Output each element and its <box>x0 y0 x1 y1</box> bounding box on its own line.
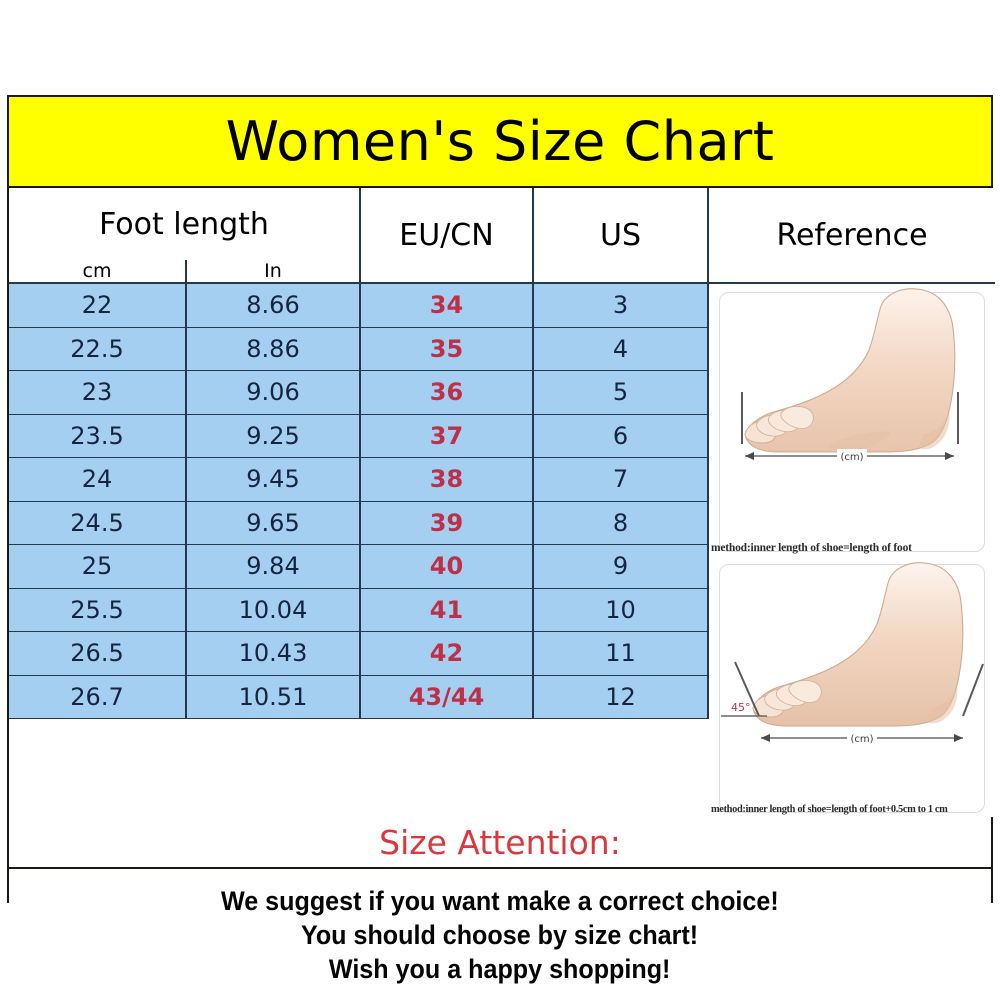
sub-header-cm: cm <box>9 260 187 284</box>
table-cell-eu_cn: 40 <box>361 545 534 589</box>
table-cell-eu_cn: 38 <box>361 458 534 502</box>
table-cell-us: 3 <box>534 284 709 328</box>
reference-diagram-1: (cm) method:inner length of shoe=length … <box>709 284 995 556</box>
sub-header-label: cm <box>83 260 112 282</box>
table-cell-us: 5 <box>534 371 709 415</box>
table-cell-in: 9.06 <box>187 371 361 415</box>
table-cell-us: 6 <box>534 415 709 459</box>
column-header-eu-cn: EU/CN <box>361 188 534 284</box>
table-cell-in: 9.45 <box>187 458 361 502</box>
attention-note-line: Wish you a happy shopping! <box>329 954 671 985</box>
table-cell-us: 8 <box>534 502 709 546</box>
reference-column: (cm) method:inner length of shoe=length … <box>709 284 995 817</box>
foot-side-view-45deg-icon: 45° (cm) <box>709 556 995 774</box>
measure-label: (cm) <box>840 452 863 463</box>
column-header-label: EU/CN <box>399 218 493 253</box>
column-header-reference: Reference <box>709 188 995 284</box>
table-cell-in: 9.25 <box>187 415 361 459</box>
table-cell-eu_cn: 34 <box>361 284 534 328</box>
table-cell-cm: 26.7 <box>9 676 187 720</box>
column-header-label: Reference <box>776 218 927 253</box>
title-banner: Women's Size Chart <box>9 97 991 188</box>
table-cell-us: 12 <box>534 676 709 720</box>
table-cell-cm: 22.5 <box>9 328 187 372</box>
sub-header-label: In <box>264 260 282 282</box>
size-attention-title: Size Attention: <box>379 823 621 862</box>
table-cell-eu_cn: 35 <box>361 328 534 372</box>
table-cell-cm: 23 <box>9 371 187 415</box>
attention-note-line: We suggest if you want make a correct ch… <box>221 886 779 917</box>
page-title: Women's Size Chart <box>226 110 775 173</box>
size-chart-frame: Women's Size Chart Foot length EU/CN US … <box>7 95 993 903</box>
table-cell-cm: 26.5 <box>9 632 187 676</box>
column-header-label: Foot length <box>99 207 269 242</box>
table-cell-in: 10.43 <box>187 632 361 676</box>
table-cell-cm: 25.5 <box>9 589 187 633</box>
table-cell-us: 11 <box>534 632 709 676</box>
reference-diagram-2: 45° (cm) method:inner length of shoe=len… <box>709 556 995 817</box>
sub-header-in: In <box>187 260 361 284</box>
table-cell-in: 10.51 <box>187 676 361 720</box>
table-cell-cm: 23.5 <box>9 415 187 459</box>
attention-notes: We suggest if you want make a correct ch… <box>9 869 991 1001</box>
size-attention-row: Size Attention: <box>9 817 991 869</box>
table-cell-eu_cn: 39 <box>361 502 534 546</box>
table-cell-cm: 24.5 <box>9 502 187 546</box>
table-cell-eu_cn: 41 <box>361 589 534 633</box>
table-cell-us: 7 <box>534 458 709 502</box>
measure-label: (cm) <box>850 734 873 745</box>
table-cell-cm: 24 <box>9 458 187 502</box>
table-cell-us: 9 <box>534 545 709 589</box>
table-cell-in: 10.04 <box>187 589 361 633</box>
table-cell-us: 10 <box>534 589 709 633</box>
table-cell-in: 9.84 <box>187 545 361 589</box>
table-cell-in: 9.65 <box>187 502 361 546</box>
column-header-foot-length: Foot length <box>9 188 361 260</box>
table-cell-eu_cn: 36 <box>361 371 534 415</box>
foot-side-view-icon: (cm) <box>709 284 995 502</box>
table-cell-in: 8.86 <box>187 328 361 372</box>
reference-caption: method:inner length of shoe=length of fo… <box>711 542 993 554</box>
table-cell-cm: 25 <box>9 545 187 589</box>
size-chart-image: Women's Size Chart Foot length EU/CN US … <box>0 0 1000 1000</box>
attention-note-line: You should choose by size chart! <box>301 920 698 951</box>
column-header-us: US <box>534 188 709 284</box>
table-cell-cm: 22 <box>9 284 187 328</box>
table-cell-eu_cn: 43/44 <box>361 676 534 720</box>
reference-caption: method:inner length of shoe=length of fo… <box>711 804 993 815</box>
table-cell-us: 4 <box>534 328 709 372</box>
angle-label: 45° <box>731 701 751 714</box>
size-table: Foot length EU/CN US Reference cm In 228… <box>9 188 991 817</box>
table-cell-eu_cn: 37 <box>361 415 534 459</box>
column-header-label: US <box>600 218 641 253</box>
table-cell-in: 8.66 <box>187 284 361 328</box>
table-cell-eu_cn: 42 <box>361 632 534 676</box>
